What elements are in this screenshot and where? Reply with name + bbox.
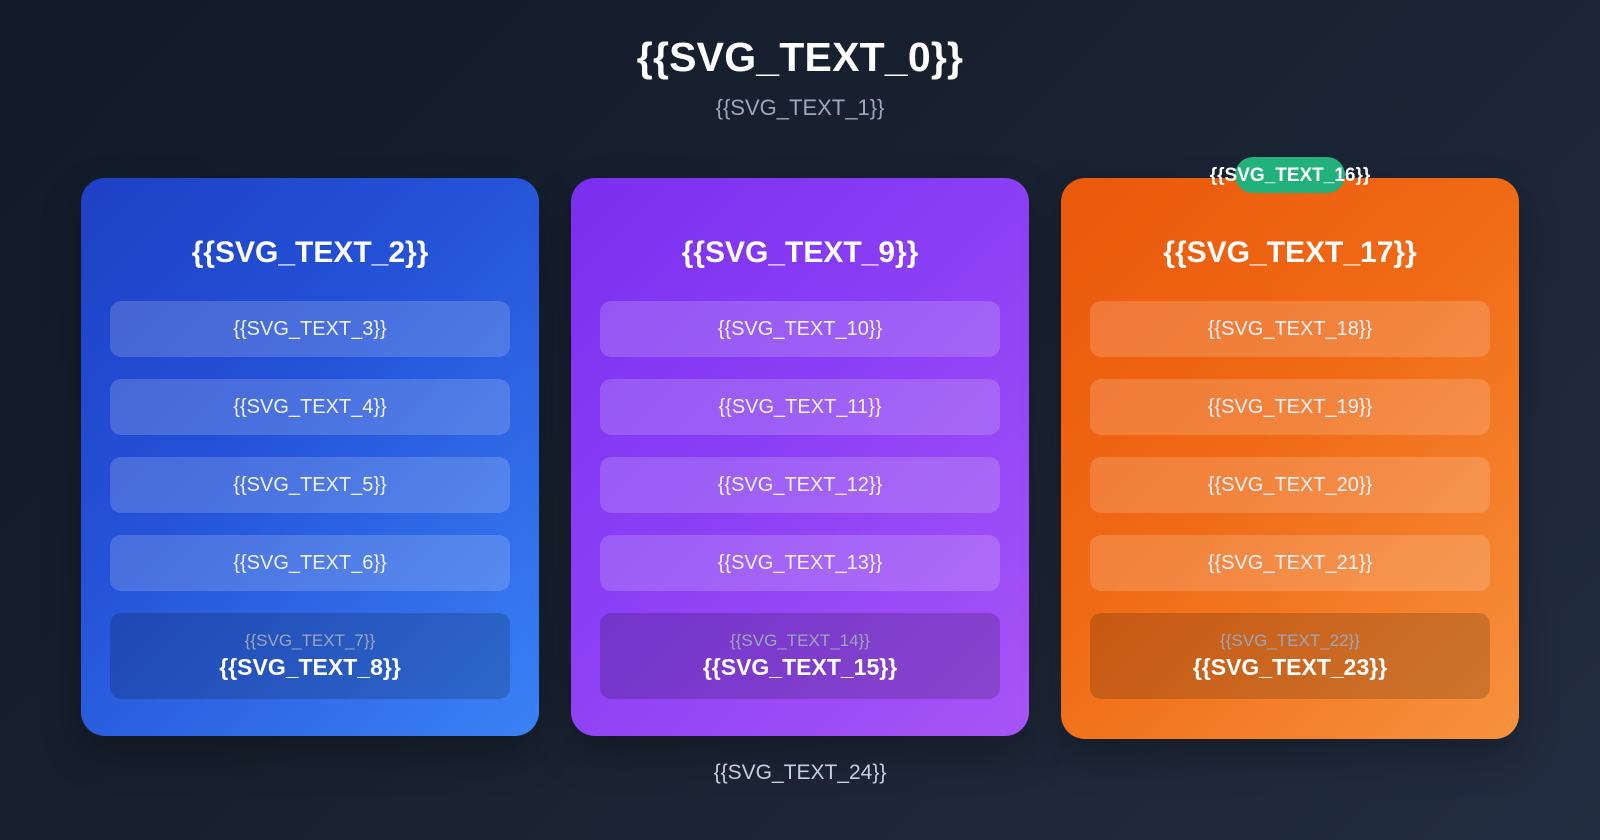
- featured-row-label: {{SVG_TEXT_22}}: [1220, 630, 1360, 651]
- featured-row-value: {{SVG_TEXT_15}}: [703, 653, 897, 682]
- feature-row: {{SVG_TEXT_19}}: [1090, 379, 1490, 435]
- feature-label: {{SVG_TEXT_19}}: [1208, 395, 1373, 419]
- featured-row: {{SVG_TEXT_14}} {{SVG_TEXT_15}}: [600, 613, 1000, 699]
- card-title: {{SVG_TEXT_9}}: [600, 235, 1000, 271]
- feature-label: {{SVG_TEXT_6}}: [233, 551, 386, 575]
- feature-label: {{SVG_TEXT_3}}: [233, 317, 386, 341]
- feature-row: {{SVG_TEXT_10}}: [600, 301, 1000, 357]
- pricing-card-tier-2[interactable]: {{SVG_TEXT_9}} {{SVG_TEXT_10}} {{SVG_TEX…: [571, 178, 1029, 736]
- feature-label: {{SVG_TEXT_18}}: [1208, 317, 1373, 341]
- card-feature-list: {{SVG_TEXT_3}} {{SVG_TEXT_4}} {{SVG_TEXT…: [110, 301, 510, 699]
- feature-label: {{SVG_TEXT_21}}: [1208, 551, 1373, 575]
- pricing-card-tier-3[interactable]: {{SVG_TEXT_16}} {{SVG_TEXT_17}} {{SVG_TE…: [1061, 178, 1519, 739]
- page-subtitle: {{SVG_TEXT_1}}: [0, 95, 1600, 121]
- card-feature-list: {{SVG_TEXT_10}} {{SVG_TEXT_11}} {{SVG_TE…: [600, 301, 1000, 699]
- feature-row: {{SVG_TEXT_20}}: [1090, 457, 1490, 513]
- feature-row: {{SVG_TEXT_18}}: [1090, 301, 1490, 357]
- feature-row: {{SVG_TEXT_21}}: [1090, 535, 1490, 591]
- card-title: {{SVG_TEXT_17}}: [1090, 235, 1490, 271]
- recommended-badge: {{SVG_TEXT_16}}: [1235, 157, 1345, 193]
- page-header: {{SVG_TEXT_0}} {{SVG_TEXT_1}}: [0, 0, 1600, 122]
- feature-row: {{SVG_TEXT_12}}: [600, 457, 1000, 513]
- feature-row: {{SVG_TEXT_3}}: [110, 301, 510, 357]
- card-title: {{SVG_TEXT_2}}: [110, 235, 510, 271]
- footer-note: {{SVG_TEXT_24}}: [0, 760, 1600, 785]
- featured-row: {{SVG_TEXT_7}} {{SVG_TEXT_8}}: [110, 613, 510, 699]
- featured-row-value: {{SVG_TEXT_23}}: [1193, 653, 1387, 682]
- feature-row: {{SVG_TEXT_11}}: [600, 379, 1000, 435]
- card-feature-list: {{SVG_TEXT_18}} {{SVG_TEXT_19}} {{SVG_TE…: [1090, 301, 1490, 699]
- feature-row: {{SVG_TEXT_4}}: [110, 379, 510, 435]
- feature-label: {{SVG_TEXT_10}}: [718, 317, 883, 341]
- feature-label: {{SVG_TEXT_11}}: [718, 395, 881, 419]
- featured-row-value: {{SVG_TEXT_8}}: [219, 653, 401, 682]
- pricing-card-tier-1[interactable]: {{SVG_TEXT_2}} {{SVG_TEXT_3}} {{SVG_TEXT…: [81, 178, 539, 736]
- feature-label: {{SVG_TEXT_20}}: [1208, 473, 1373, 497]
- feature-label: {{SVG_TEXT_12}}: [718, 473, 883, 497]
- feature-row: {{SVG_TEXT_6}}: [110, 535, 510, 591]
- feature-label: {{SVG_TEXT_4}}: [233, 395, 386, 419]
- recommended-badge-label: {{SVG_TEXT_16}}: [1210, 166, 1371, 185]
- page-title: {{SVG_TEXT_0}}: [0, 34, 1600, 81]
- feature-row: {{SVG_TEXT_5}}: [110, 457, 510, 513]
- feature-label: {{SVG_TEXT_13}}: [718, 551, 883, 575]
- featured-row-label: {{SVG_TEXT_7}}: [245, 630, 375, 651]
- feature-label: {{SVG_TEXT_5}}: [233, 473, 386, 497]
- pricing-card-list: {{SVG_TEXT_2}} {{SVG_TEXT_3}} {{SVG_TEXT…: [81, 178, 1519, 739]
- featured-row: {{SVG_TEXT_22}} {{SVG_TEXT_23}}: [1090, 613, 1490, 699]
- feature-row: {{SVG_TEXT_13}}: [600, 535, 1000, 591]
- featured-row-label: {{SVG_TEXT_14}}: [730, 630, 870, 651]
